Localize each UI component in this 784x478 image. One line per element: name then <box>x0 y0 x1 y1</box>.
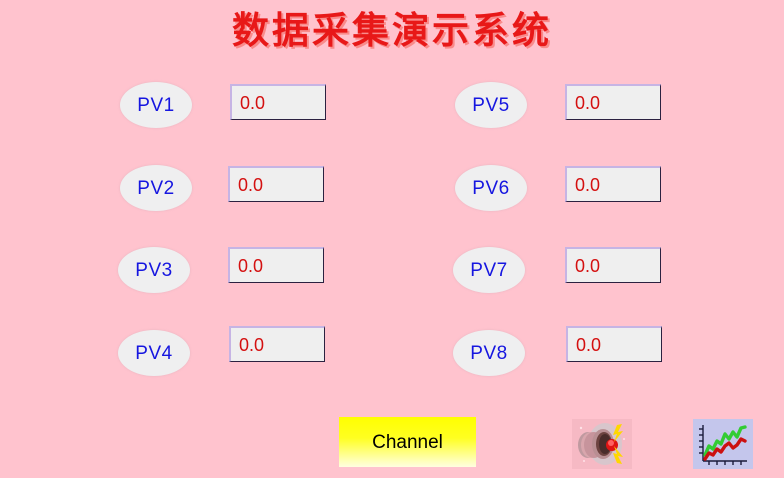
pv-value-field-pv7[interactable]: 0.0 <box>565 247 661 283</box>
pv-row-pv1: PV1 0.0 <box>120 78 335 138</box>
pv-value-text: 0.0 <box>567 94 600 112</box>
pv-row-pv7: PV7 0.0 <box>453 243 668 303</box>
trend-chart-icon <box>693 419 753 469</box>
pv-value-field-pv1[interactable]: 0.0 <box>230 84 326 120</box>
pv-tag-pv6[interactable]: PV6 <box>455 165 527 211</box>
pv-tag-label: PV5 <box>472 96 509 115</box>
pv-tag-pv8[interactable]: PV8 <box>453 330 525 376</box>
pv-value-text: 0.0 <box>567 176 600 194</box>
pv-value-text: 0.0 <box>567 257 600 275</box>
alarm-siren-icon-button[interactable] <box>572 419 632 469</box>
pv-tag-pv3[interactable]: PV3 <box>118 247 190 293</box>
pv-tag-label: PV8 <box>470 344 507 363</box>
pv-tag-label: PV1 <box>137 96 174 115</box>
pv-value-text: 0.0 <box>230 176 263 194</box>
pv-value-field-pv2[interactable]: 0.0 <box>228 166 324 202</box>
pv-tag-label: PV6 <box>472 179 509 198</box>
alarm-siren-icon <box>572 419 632 469</box>
pv-tag-pv2[interactable]: PV2 <box>120 165 192 211</box>
channel-button[interactable]: Channel <box>339 417 476 467</box>
pv-tag-pv7[interactable]: PV7 <box>453 247 525 293</box>
pv-row-pv2: PV2 0.0 <box>120 161 335 221</box>
trend-chart-icon-button[interactable] <box>693 419 753 469</box>
pv-value-field-pv6[interactable]: 0.0 <box>565 166 661 202</box>
pv-value-field-pv4[interactable]: 0.0 <box>229 326 325 362</box>
pv-tag-label: PV7 <box>470 261 507 280</box>
pv-value-text: 0.0 <box>568 336 601 354</box>
channel-button-label: Channel <box>372 433 443 452</box>
pv-value-field-pv5[interactable]: 0.0 <box>565 84 661 120</box>
pv-row-pv5: PV5 0.0 <box>455 78 670 138</box>
pv-tag-pv4[interactable]: PV4 <box>118 330 190 376</box>
application-window: 数据采集演示系统 PV1 0.0 PV2 0.0 PV3 0.0 PV4 0.0 <box>0 0 784 478</box>
pv-row-pv4: PV4 0.0 <box>118 326 333 386</box>
pv-value-field-pv3[interactable]: 0.0 <box>228 247 324 283</box>
pv-value-text: 0.0 <box>230 257 263 275</box>
pv-tag-pv1[interactable]: PV1 <box>120 82 192 128</box>
pv-tag-label: PV3 <box>135 261 172 280</box>
pv-value-text: 0.0 <box>231 336 264 354</box>
pv-tag-label: PV4 <box>135 344 172 363</box>
pv-tag-label: PV2 <box>137 179 174 198</box>
pv-tag-pv5[interactable]: PV5 <box>455 82 527 128</box>
pv-value-field-pv8[interactable]: 0.0 <box>566 326 662 362</box>
page-title: 数据采集演示系统 <box>0 8 784 52</box>
pv-row-pv3: PV3 0.0 <box>118 243 333 303</box>
pv-row-pv6: PV6 0.0 <box>455 161 670 221</box>
pv-row-pv8: PV8 0.0 <box>453 326 668 386</box>
pv-value-text: 0.0 <box>232 94 265 112</box>
